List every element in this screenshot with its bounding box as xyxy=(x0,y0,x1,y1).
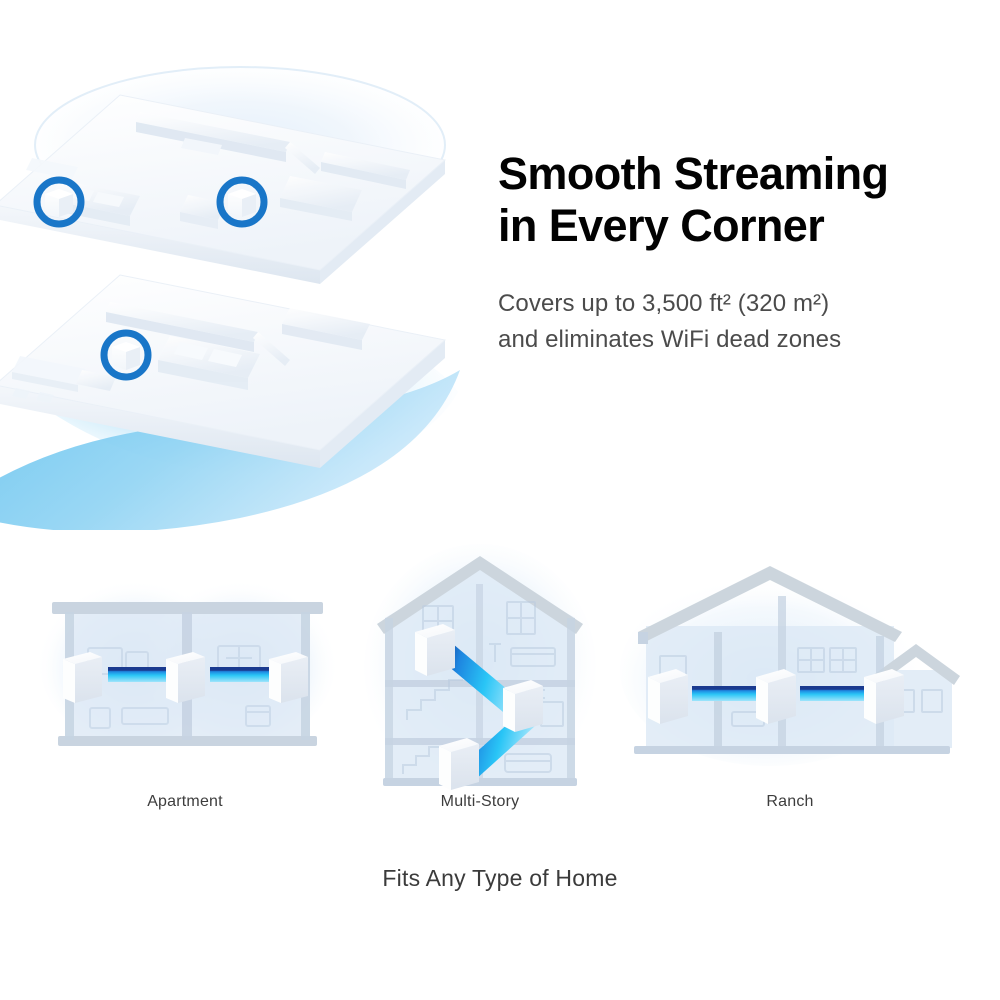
hero-subcopy: Covers up to 3,500 ft² (320 m²) and elim… xyxy=(498,286,968,357)
home-type-multistory xyxy=(355,540,605,810)
headline-line-1: Smooth Streaming xyxy=(498,148,888,199)
headline-line-2: in Every Corner xyxy=(498,200,968,252)
floorplan-illustration xyxy=(0,40,490,530)
apartment-mesh-unit xyxy=(63,652,102,703)
apartment-mesh-unit xyxy=(166,652,205,703)
ranch-mesh-unit xyxy=(756,669,796,724)
home-type-label-multistory: Multi-Story xyxy=(305,793,655,811)
subcopy-line-2: and eliminates WiFi dead zones xyxy=(498,322,968,357)
apartment-mesh-unit xyxy=(269,652,308,703)
multistory-mesh-unit xyxy=(439,738,479,790)
home-types-section: Apartment Multi-Story Ranch Fits Any Typ… xyxy=(0,540,1000,1000)
marketing-graphic-page: Smooth Streaming in Every Corner Covers … xyxy=(0,0,1000,1000)
home-type-ranch xyxy=(620,540,960,810)
home-types-caption: Fits Any Type of Home xyxy=(0,865,1000,892)
home-type-label-ranch: Ranch xyxy=(615,793,965,811)
home-types-row: Apartment Multi-Story Ranch xyxy=(0,540,1000,810)
ranch-mesh-unit xyxy=(864,669,904,724)
subcopy-line-1: Covers up to 3,500 ft² (320 m²) xyxy=(498,290,829,317)
multistory-mesh-unit xyxy=(415,624,455,676)
hero-copy: Smooth Streaming in Every Corner Covers … xyxy=(498,148,968,357)
hero-section: Smooth Streaming in Every Corner Covers … xyxy=(0,0,1000,540)
page-title: Smooth Streaming in Every Corner xyxy=(498,148,968,252)
multistory-mesh-unit xyxy=(503,680,543,732)
ranch-mesh-unit xyxy=(648,669,688,724)
home-type-apartment xyxy=(30,540,340,810)
